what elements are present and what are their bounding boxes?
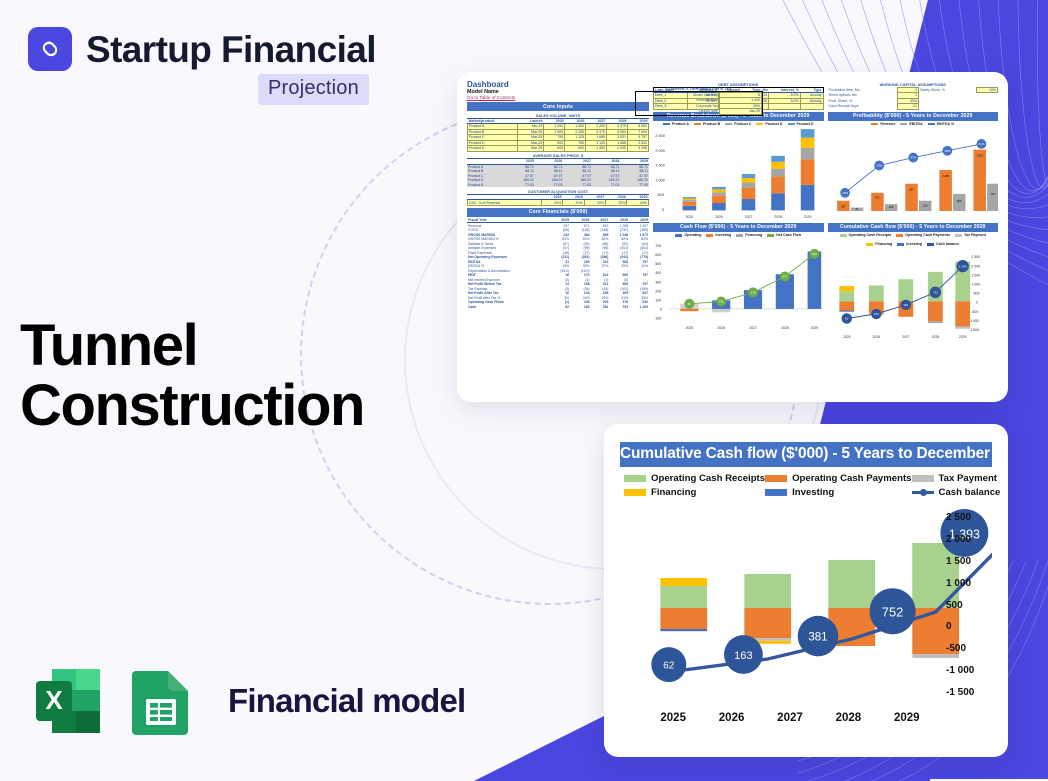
table-cell: 10% xyxy=(977,87,998,93)
table-row: Product E77.0377.0377.0377.0377.03 xyxy=(467,183,649,188)
svg-text:37%: 37% xyxy=(910,155,916,159)
table-cell: 20% xyxy=(584,200,605,206)
svg-text:640: 640 xyxy=(812,252,817,256)
dashboard-preview-card[interactable]: Dashboard Model Name Go to Table of Cont… xyxy=(457,72,1008,402)
y-axis-tick: -1 500 xyxy=(946,687,992,698)
cumulative-cash-flow-legend: Operating Cash ReceiptsOperating Cash Pa… xyxy=(624,473,992,498)
x-axis-tick: 2025 xyxy=(660,712,686,724)
svg-text:752: 752 xyxy=(882,605,903,620)
legend-swatch xyxy=(624,475,646,482)
svg-text:381: 381 xyxy=(903,303,908,307)
sales-volume-table: Market/productLaunch20252026202720282029… xyxy=(467,119,649,152)
svg-text:-1 500: -1 500 xyxy=(968,328,978,332)
table-cell xyxy=(769,104,800,110)
svg-text:2029: 2029 xyxy=(811,326,819,330)
table-cell: 163 xyxy=(570,304,590,309)
brand-title: Startup Financial xyxy=(86,31,376,68)
svg-text:1 285: 1 285 xyxy=(942,173,949,177)
svg-text:0: 0 xyxy=(660,307,662,311)
svg-text:218: 218 xyxy=(751,290,756,294)
table-cell: 1 350 xyxy=(586,146,607,152)
table-of-contents-link[interactable]: Go to Table of Contents xyxy=(467,95,649,100)
legend-swatch xyxy=(765,489,787,496)
svg-text:2027: 2027 xyxy=(749,326,757,330)
legend-label: Cash balance xyxy=(939,487,1001,498)
svg-text:500: 500 xyxy=(655,262,661,266)
dashboard-mid-column: DEBT ASSUMPTIONS Loan NameAmount, $Launc… xyxy=(653,80,824,341)
svg-text:2027: 2027 xyxy=(902,334,910,338)
brand-subtitle-badge: Projection xyxy=(258,74,369,105)
svg-text:32%: 32% xyxy=(876,163,882,167)
legend-item: Financing xyxy=(624,487,765,498)
table-cell: 20% xyxy=(606,200,627,206)
table-cell: 2 025 xyxy=(607,146,628,152)
legend-label: Investing xyxy=(792,487,834,498)
svg-text:752: 752 xyxy=(932,290,937,294)
svg-text:571: 571 xyxy=(875,195,880,199)
table-cell: CAC, % of Revenue xyxy=(468,200,542,206)
profitability-chart: 29731 571185 857313 1 285506 1 927797 10… xyxy=(828,128,999,221)
svg-text:600: 600 xyxy=(655,253,661,257)
table-cell: Product E xyxy=(467,183,506,188)
legend-swatch xyxy=(624,489,646,496)
legend-item: Operating Cash Receipts xyxy=(840,233,892,237)
legend-swatch xyxy=(912,491,934,494)
legend-item: Tax Payment xyxy=(912,473,1001,484)
svg-text:500: 500 xyxy=(973,291,979,295)
table-cell: 900 xyxy=(565,146,586,152)
legend-label: Operating Cash Receipts xyxy=(651,473,765,484)
legend-item: Product C xyxy=(725,122,751,126)
svg-text:185: 185 xyxy=(888,205,893,209)
page-title: Tunnel Construction xyxy=(20,316,364,437)
cash-balance-markers: 62 163 381 752 1 393 xyxy=(620,502,992,702)
legend-label: Tax Payment xyxy=(939,473,997,484)
svg-text:2026: 2026 xyxy=(717,326,725,330)
table-row: CAC, % of Revenue20%20%20%20%20% xyxy=(468,200,649,206)
google-sheets-icon xyxy=(124,663,200,739)
svg-text:371: 371 xyxy=(782,274,787,278)
svg-text:2029: 2029 xyxy=(804,214,812,218)
svg-text:39%: 39% xyxy=(944,148,950,152)
cumulative-cash-flow-plot: 62 163 381 752 1 393 2 5002 0001 5001 00… xyxy=(620,502,992,724)
core-inputs-bar: Core Inputs xyxy=(467,102,649,111)
cash-flow-chart-title: Cash Flow ($'000) - 5 Years to December … xyxy=(653,223,824,232)
legend-item: Operating Cash Payments xyxy=(765,473,911,484)
row-label: Cash xyxy=(467,304,550,309)
y-axis-tick: 500 xyxy=(946,600,992,611)
revenue-breakdown-legend: Product AProduct BProduct CProduct DProd… xyxy=(653,122,824,126)
legend-item: Operating Cash Receipts xyxy=(624,473,765,484)
svg-text:31: 31 xyxy=(855,207,859,211)
svg-text:10%: 10% xyxy=(842,190,848,194)
svg-text:2 500: 2 500 xyxy=(655,134,665,138)
row-label: Cash Receipt Days xyxy=(828,104,898,110)
svg-text:0: 0 xyxy=(975,300,977,304)
y-axis-tick: 2 000 xyxy=(946,534,992,545)
cac-table: 20252026202720282029CAC, % of Revenue20%… xyxy=(467,195,649,206)
svg-text:700: 700 xyxy=(655,244,661,248)
legend-item: Investing xyxy=(765,487,911,498)
legend-item: Operating Cash Payments xyxy=(896,233,950,237)
svg-text:2028: 2028 xyxy=(774,214,782,218)
y-axis-tick: -1 000 xyxy=(946,665,992,676)
table-cell: 77.03 xyxy=(506,183,535,188)
legend-item: Product B xyxy=(694,122,720,126)
x-axis-tick: 2028 xyxy=(836,712,862,724)
svg-text:2025: 2025 xyxy=(842,334,850,338)
working-capital-table: Production time, Mo2Safety Stock, %10%Te… xyxy=(828,87,999,110)
table-cell: 752 xyxy=(609,304,629,309)
dashboard-right-column: WORKING CAPITAL ASSUMPTIONS Production t… xyxy=(828,80,999,341)
table-cell: 20% xyxy=(563,200,584,206)
svg-text:163: 163 xyxy=(873,312,878,316)
svg-text:1 500: 1 500 xyxy=(971,273,980,277)
cumulative-cash-flow-y-axis: 2 5002 0001 5001 0005000-500-1 000-1 500 xyxy=(946,512,992,698)
svg-text:2025: 2025 xyxy=(686,214,694,218)
svg-text:2028: 2028 xyxy=(931,334,939,338)
cumulative-mini-chart: 2 5002 0001 500 1 0005000 -500-1 000-1 5… xyxy=(828,248,999,341)
svg-text:300: 300 xyxy=(655,280,661,284)
table-cell: 21 xyxy=(898,104,919,110)
legend-item: Investing xyxy=(706,233,731,237)
legend-item: Investing xyxy=(897,242,922,246)
svg-text:2 500: 2 500 xyxy=(971,255,980,259)
svg-text:1 000: 1 000 xyxy=(655,178,665,182)
svg-text:-500: -500 xyxy=(971,309,978,313)
table-cell: 77.03 xyxy=(563,183,592,188)
svg-text:1 393: 1 393 xyxy=(959,264,967,268)
svg-text:-100: -100 xyxy=(654,316,661,320)
cumulative-cash-flow-card[interactable]: Cumulative Cash flow ($'000) - 5 Years t… xyxy=(604,424,1008,757)
table-cell: 381 xyxy=(591,304,610,309)
cumulative-mini-chart-title: Cumulative Cash flow ($'000) - 5 Years t… xyxy=(828,223,999,232)
svg-text:1 500: 1 500 xyxy=(655,163,665,167)
legend-label: Operating Cash Payments xyxy=(792,473,911,484)
svg-text:-1 000: -1 000 xyxy=(968,319,978,323)
legend-swatch xyxy=(912,475,934,482)
svg-text:2027: 2027 xyxy=(745,214,753,218)
row-label: Safety Stock, % xyxy=(919,87,977,93)
legend-item: Product A xyxy=(663,122,689,126)
table-row: Cash Receipt Days21 xyxy=(828,104,998,110)
svg-text:797: 797 xyxy=(990,192,995,196)
table-cell: Mar-25 xyxy=(517,146,543,152)
x-axis-tick: 2026 xyxy=(719,712,745,724)
svg-text:2026: 2026 xyxy=(872,334,880,338)
cumulative-cash-flow-title: Cumulative Cash flow ($'000) - 5 Years t… xyxy=(620,442,992,467)
table-cell: 77.03 xyxy=(535,183,564,188)
svg-text:506: 506 xyxy=(957,198,962,202)
svg-text:200: 200 xyxy=(655,289,661,293)
format-badges-label: Financial model xyxy=(228,682,465,720)
legend-item: Operating xyxy=(675,233,701,237)
svg-text:313: 313 xyxy=(922,203,927,207)
svg-text:2025: 2025 xyxy=(686,326,694,330)
svg-text:297: 297 xyxy=(841,204,846,208)
svg-text:2026: 2026 xyxy=(715,214,723,218)
table-cell: 600 xyxy=(544,146,565,152)
legend-item: Product D xyxy=(756,122,782,126)
table-row: Launch dateJan-25 xyxy=(636,109,762,115)
infinity-loop-icon xyxy=(28,27,72,71)
svg-text:62: 62 xyxy=(663,661,675,672)
page-title-line-2: Construction xyxy=(20,376,364,436)
core-financials-table: Fiscal Year20252026202720282029Revenue29… xyxy=(467,218,649,309)
svg-text:X: X xyxy=(45,685,63,715)
svg-text:1 000: 1 000 xyxy=(971,282,980,286)
table-row: Cash621633817521 393 xyxy=(467,304,649,309)
svg-text:857: 857 xyxy=(909,187,914,191)
y-axis-tick: 2 500 xyxy=(946,512,992,523)
row-label: Launch date xyxy=(636,109,719,115)
svg-text:62: 62 xyxy=(845,316,849,320)
cumulative-mini-chart-legend: Operating Cash ReceiptsOperating Cash Pa… xyxy=(828,233,999,246)
x-axis-tick: 2027 xyxy=(777,712,803,724)
dashboard-title: Dashboard xyxy=(467,80,649,89)
svg-text:381: 381 xyxy=(808,632,827,644)
table-cell: 20% xyxy=(541,200,562,206)
table-cell: 3 038 xyxy=(627,146,648,152)
y-axis-tick: -500 xyxy=(946,643,992,654)
svg-text:0: 0 xyxy=(662,208,664,212)
microsoft-excel-icon: X xyxy=(30,663,106,739)
cash-flow-chart: 700600500 400300200 1000-100 xyxy=(653,239,824,332)
legend-item: Cash balance xyxy=(912,487,1001,498)
format-badges: X Financial model xyxy=(30,663,465,739)
cash-flow-chart-legend: OperatingInvestingFinancingNet Cash Flow xyxy=(653,233,824,237)
svg-text:2 000: 2 000 xyxy=(971,264,980,268)
y-axis-tick: 1 500 xyxy=(946,556,992,567)
cumulative-cash-flow-x-axis: 20252026202720282029 xyxy=(644,712,936,724)
legend-item: Financing xyxy=(736,233,762,237)
y-axis-tick: 0 xyxy=(946,621,992,632)
legend-item: EBITDA % xyxy=(928,122,954,126)
table-cell: 77.03 xyxy=(620,183,649,188)
legend-item: Revenue xyxy=(871,122,895,126)
profitability-chart-legend: RevenueEBITDAEBITDA % xyxy=(828,122,999,126)
brand-logo: Startup Financial xyxy=(28,27,376,71)
legend-item: Tax Payment xyxy=(955,233,986,237)
currency-box: CURRENCY, DENOMINATOR & TAX Model Curren… xyxy=(631,84,767,116)
legend-item: Net Cash Flow xyxy=(767,233,801,237)
svg-text:1 927: 1 927 xyxy=(976,153,983,157)
average-price-table: 20252026202720282029Product A58.7158.715… xyxy=(467,159,649,187)
svg-text:2028: 2028 xyxy=(781,326,789,330)
dashboard-left-column: Dashboard Model Name Go to Table of Cont… xyxy=(467,80,649,341)
y-axis-tick: 1 000 xyxy=(946,578,992,589)
svg-text:2029: 2029 xyxy=(958,334,966,338)
svg-text:2 000: 2 000 xyxy=(655,148,665,152)
table-cell: 20% xyxy=(627,200,649,206)
x-axis-tick: 2029 xyxy=(894,712,920,724)
svg-text:400: 400 xyxy=(655,271,661,275)
legend-label: Financing xyxy=(651,487,696,498)
svg-text:62: 62 xyxy=(688,302,692,306)
table-cell: 62 xyxy=(550,304,570,309)
profitability-chart-title: Profitability ($'000) - 5 Years to Decem… xyxy=(828,112,999,121)
table-cell: Jan-25 xyxy=(719,109,761,115)
svg-text:500: 500 xyxy=(658,193,664,197)
core-financials-bar: Core Financials ($'000) xyxy=(467,208,649,217)
page-title-line-1: Tunnel xyxy=(20,316,364,376)
revenue-breakdown-chart: 2 5002 0001 500 1 0005000 xyxy=(653,128,824,221)
svg-text:101: 101 xyxy=(719,299,724,303)
svg-text:41%: 41% xyxy=(978,142,984,146)
table-cell: 1 393 xyxy=(629,304,649,309)
legend-item: Financing xyxy=(866,242,892,246)
legend-item: EBITDA xyxy=(900,122,922,126)
legend-item: Product E xyxy=(788,122,814,126)
svg-text:100: 100 xyxy=(655,298,661,302)
legend-swatch xyxy=(765,475,787,482)
svg-text:163: 163 xyxy=(734,650,752,662)
table-cell xyxy=(800,104,823,110)
legend-item: Cash balance xyxy=(927,242,959,246)
table-row: Product EMar-256009001 3502 0253 038 xyxy=(468,146,649,152)
table-cell: 77.03 xyxy=(592,183,621,188)
table-cell: Product E xyxy=(468,146,518,152)
